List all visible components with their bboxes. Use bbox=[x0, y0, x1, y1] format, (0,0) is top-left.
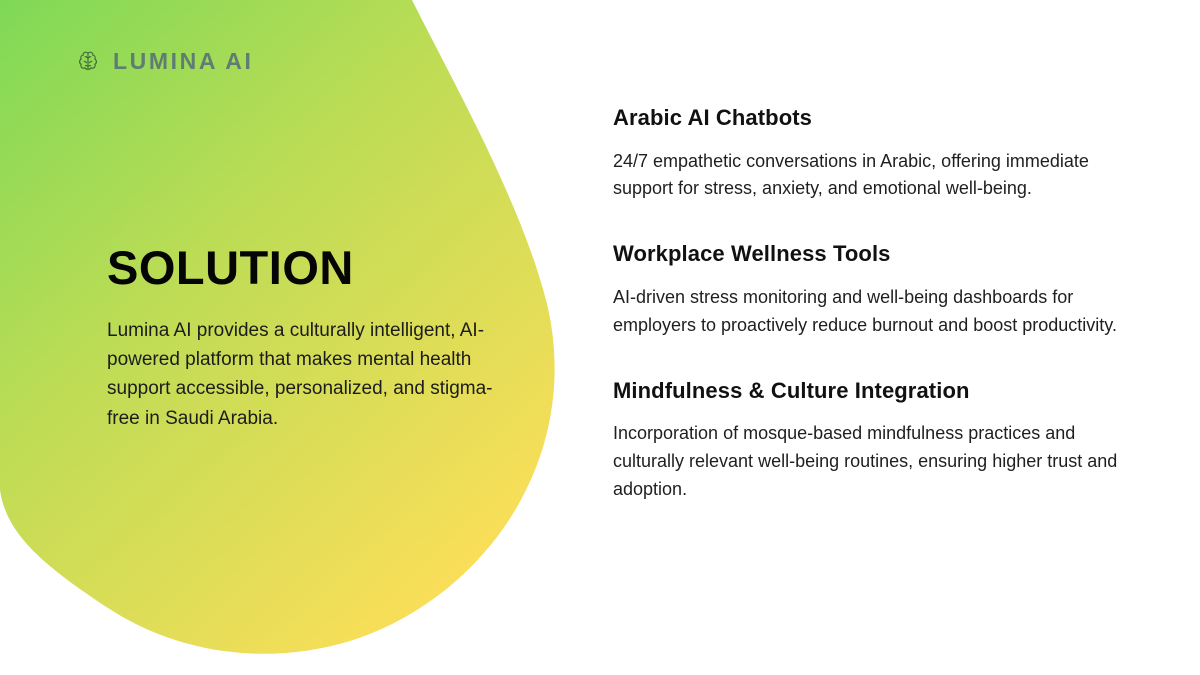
feature-body: 24/7 empathetic conversations in Arabic,… bbox=[613, 148, 1123, 204]
brain-icon bbox=[76, 49, 100, 73]
feature-heading: Arabic AI Chatbots bbox=[613, 104, 1123, 132]
feature-item-arabic-ai-chatbots: Arabic AI Chatbots 24/7 empathetic conve… bbox=[613, 104, 1123, 203]
page-title: SOLUTION bbox=[107, 243, 507, 292]
feature-item-workplace-wellness-tools: Workplace Wellness Tools AI-driven stres… bbox=[613, 240, 1123, 339]
brand-logo: LUMINA AI bbox=[76, 49, 254, 73]
feature-item-mindfulness-culture-integration: Mindfulness & Culture Integration Incorp… bbox=[613, 377, 1123, 504]
feature-list: Arabic AI Chatbots 24/7 empathetic conve… bbox=[613, 104, 1123, 504]
feature-heading: Workplace Wellness Tools bbox=[613, 240, 1123, 268]
left-panel-content: SOLUTION Lumina AI provides a culturally… bbox=[107, 243, 507, 433]
feature-heading: Mindfulness & Culture Integration bbox=[613, 377, 1123, 405]
brand-name: LUMINA AI bbox=[113, 50, 254, 73]
feature-body: Incorporation of mosque-based mindfulnes… bbox=[613, 420, 1123, 504]
solution-description: Lumina AI provides a culturally intellig… bbox=[107, 316, 497, 432]
slide-canvas: LUMINA AI SOLUTION Lumina AI provides a … bbox=[0, 0, 1200, 675]
feature-body: AI-driven stress monitoring and well-bei… bbox=[613, 284, 1123, 340]
